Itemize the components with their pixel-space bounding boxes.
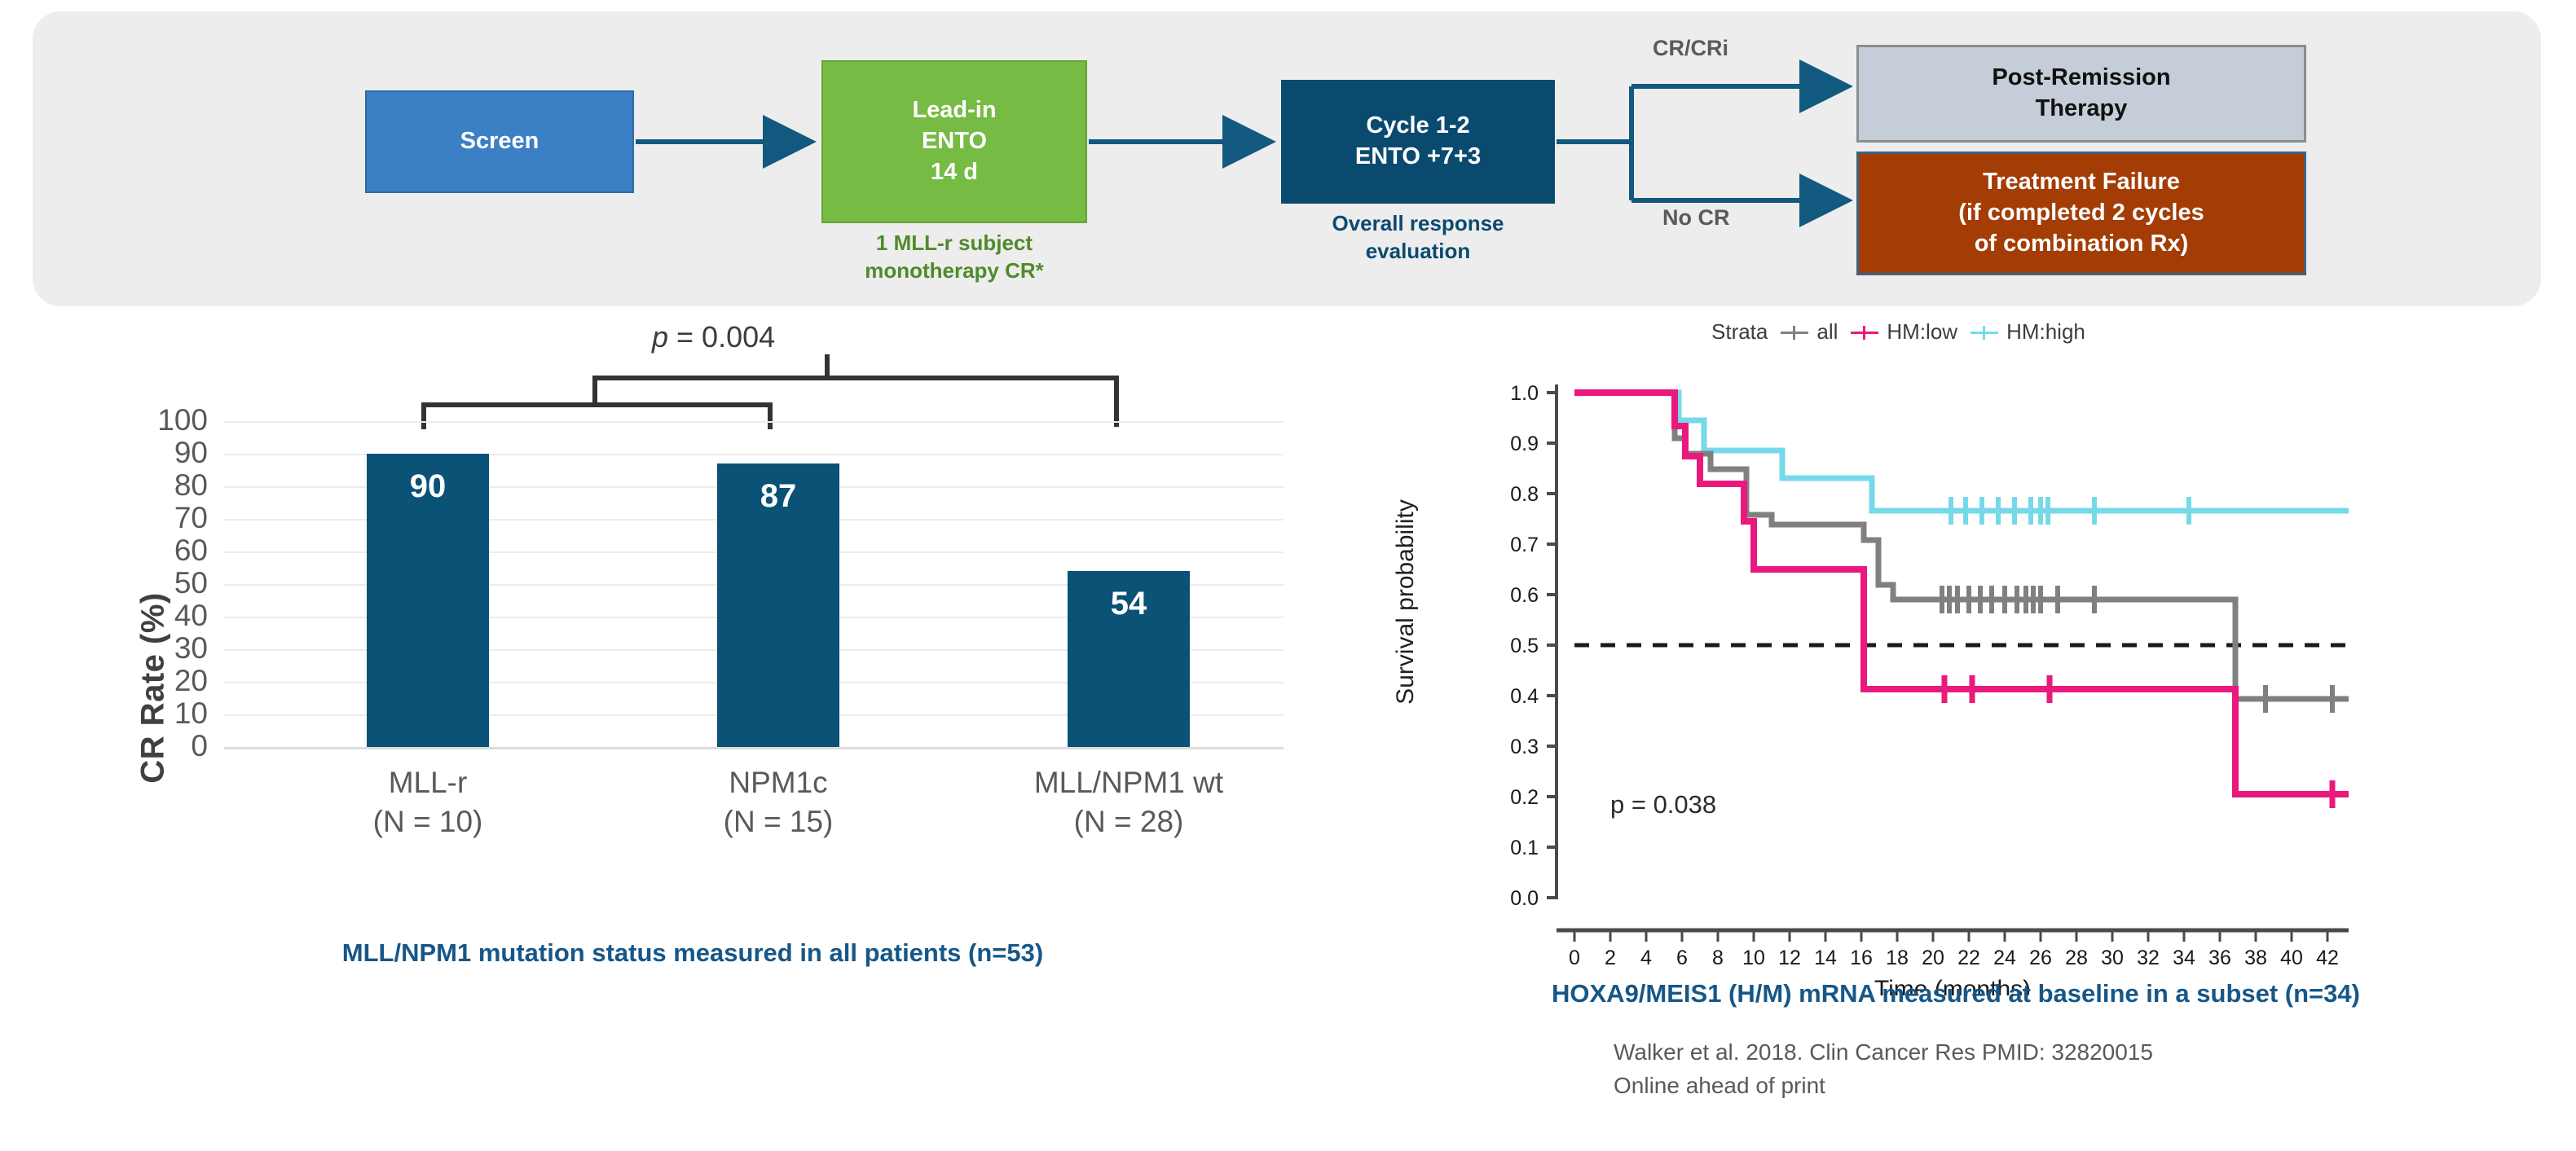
km-ytick-0-5: 0.5 [1510,635,1539,657]
source-credit-line-2: Online ahead of print [1614,1070,2153,1103]
km-curve-all [1574,393,2349,699]
km-ytick-0-4: 0.4 [1510,685,1539,708]
km-censor-marks-hm-low [1944,675,2332,808]
bar-xlabel-mll-npm1-wt: MLL/NPM1 wt (N = 28) [998,763,1259,841]
gridline-100 [224,421,1284,423]
km-y-tick-labels: 1.0 0.9 0.8 0.7 0.6 0.5 0.4 0.3 0.2 0.1 … [1510,382,1539,910]
flow-caption-lead-in-line-1: 1 MLL-r subject [789,230,1120,257]
km-legend: Strata all HM:low HM:high [1711,319,2085,345]
km-xtick-42: 42 [2316,947,2339,969]
bar-ytick-10: 10 [110,696,208,731]
km-caption: HOXA9/MEIS1 (H/M) mRNA measured at basel… [1353,979,2559,1008]
km-legend-swatch-hm-low-icon [1851,324,1878,340]
km-legend-swatch-all-icon [1781,324,1808,340]
flow-caption-lead-in: 1 MLL-r subject monotherapy CR* [789,230,1120,285]
km-ytick-0-2: 0.2 [1510,786,1539,809]
km-legend-item-all: all [1781,319,1838,345]
km-xtick-26: 26 [2029,947,2052,969]
flow-edge-label-no-cr: No CR [1662,205,1730,231]
flow-box-post-remission-line-2: Therapy [2036,94,2128,125]
km-xtick-22: 22 [1957,947,1980,969]
km-pvalue-annotation: p = 0.038 [1610,790,1716,819]
bar-ytick-100: 100 [110,403,208,437]
km-xtick-14: 14 [1814,947,1837,969]
source-credit-line-1: Walker et al. 2018. Clin Cancer Res PMID… [1614,1036,2153,1070]
flow-box-cycle-line-1: Cycle 1-2 [1366,111,1469,142]
source-credit: Walker et al. 2018. Clin Cancer Res PMID… [1614,1036,2153,1102]
km-xtick-16: 16 [1850,947,1873,969]
km-ytick-0-6: 0.6 [1510,584,1539,607]
bar-mll-r: 90 [367,454,489,747]
km-xtick-8: 8 [1712,947,1724,969]
bar-value-mll-npm1-wt: 54 [1068,586,1190,622]
bar-xlabel-mll-npm1-wt-n: (N = 28) [998,802,1259,841]
cr-rate-bar-chart: CR Rate (%) p = 0.004 100 90 80 70 60 50… [33,319,1336,1036]
axis-baseline [224,747,1284,749]
study-design-flow-panel: Screen Lead-in ENTO 14 d Cycle 1-2 ENTO … [33,11,2541,306]
bar-xlabel-mll-r-name: MLL-r [297,763,558,802]
flow-box-treatment-failure-line-1: Treatment Failure [1983,167,2180,198]
flow-edge-label-cr-cri: CR/CRi [1653,36,1728,61]
bar-ytick-60: 60 [110,534,208,568]
flow-box-treatment-failure: Treatment Failure (if completed 2 cycles… [1856,152,2306,275]
flow-box-post-remission-therapy: Post-Remission Therapy [1856,45,2306,143]
km-ytick-0-1: 0.1 [1510,837,1539,859]
kaplan-meier-survival-plot: Strata all HM:low HM:high Survival proba… [1353,319,2575,1150]
km-ytick-1-0: 1.0 [1510,382,1539,405]
flow-box-lead-in-line-1: Lead-in [912,95,996,126]
flow-caption-cycle-line-2: evaluation [1232,238,1604,266]
km-ytick-0-3: 0.3 [1510,736,1539,758]
km-xtick-36: 36 [2208,947,2231,969]
km-x-tick-labels: 0 2 4 6 8 10 12 14 16 18 20 22 24 26 28 … [1569,947,2339,969]
pvalue-italic-p: p [652,320,668,354]
flow-box-screen: Screen [365,90,634,193]
bar-value-npm1c: 87 [717,478,839,515]
km-xtick-4: 4 [1640,947,1652,969]
flow-box-treatment-failure-line-3: of combination Rx) [1975,229,2189,260]
flow-box-lead-in-line-2: ENTO [922,126,987,157]
km-y-axis-label: Survival probability [1392,439,1420,765]
km-legend-label-hm-low: HM:low [1887,319,1957,345]
km-xtick-24: 24 [1993,947,2016,969]
km-xtick-18: 18 [1886,947,1909,969]
flow-box-lead-in-line-3: 14 d [931,157,978,188]
km-legend-title: Strata [1711,319,1768,345]
km-legend-swatch-hm-high-icon [1971,324,1998,340]
km-xtick-12: 12 [1778,947,1801,969]
bar-chart-caption: MLL/NPM1 mutation status measured in all… [130,938,1255,968]
bar-xlabel-mll-r: MLL-r (N = 10) [297,763,558,841]
flow-caption-cycle-line-1: Overall response [1232,210,1604,238]
km-legend-label-hm-high: HM:high [2006,319,2085,345]
km-censor-marks-all [1942,586,2332,713]
km-xtick-28: 28 [2065,947,2088,969]
bar-mll-npm1-wt: 54 [1068,571,1190,747]
km-xtick-34: 34 [2173,947,2195,969]
km-ytick-0-9: 0.9 [1510,433,1539,455]
bar-ytick-30: 30 [110,631,208,666]
km-xtick-20: 20 [1922,947,1944,969]
flow-box-screen-line-1: Screen [460,126,539,157]
km-ytick-0-8: 0.8 [1510,483,1539,506]
bar-value-mll-r: 90 [367,468,489,505]
bar-ytick-20: 20 [110,664,208,698]
pvalue-rest: = 0.004 [668,320,775,354]
flow-box-cycle-line-2: ENTO +7+3 [1355,142,1481,173]
bar-ytick-50: 50 [110,566,208,600]
bar-npm1c: 87 [717,463,839,747]
km-xtick-32: 32 [2137,947,2160,969]
km-xtick-30: 30 [2101,947,2124,969]
bar-xlabel-npm1c-name: NPM1c [648,763,909,802]
bar-ytick-40: 40 [110,599,208,633]
bar-chart-pvalue-annotation: p = 0.004 [652,320,775,354]
km-legend-item-hm-low: HM:low [1851,319,1957,345]
bar-chart-plot-area: 100 90 80 70 60 50 40 30 20 10 0 90 87 5… [224,421,1284,747]
bar-xlabel-npm1c: NPM1c (N = 15) [648,763,909,841]
bar-xlabel-mll-npm1-wt-name: MLL/NPM1 wt [998,763,1259,802]
bar-ytick-90: 90 [110,436,208,470]
bar-ytick-0: 0 [110,729,208,763]
km-legend-label-all: all [1816,319,1838,345]
km-xtick-38: 38 [2244,947,2267,969]
km-xtick-40: 40 [2280,947,2303,969]
flow-box-lead-in: Lead-in ENTO 14 d [821,60,1087,223]
flow-caption-cycle: Overall response evaluation [1232,210,1604,266]
km-xtick-2: 2 [1605,947,1616,969]
bar-ytick-80: 80 [110,468,208,503]
flow-box-cycle: Cycle 1-2 ENTO +7+3 [1281,80,1555,204]
km-xtick-10: 10 [1742,947,1765,969]
flow-box-treatment-failure-line-2: (if completed 2 cycles [1958,198,2204,229]
km-legend-item-hm-high: HM:high [1971,319,2085,345]
bar-ytick-70: 70 [110,501,208,535]
bar-xlabel-mll-r-n: (N = 10) [297,802,558,841]
km-xtick-6: 6 [1676,947,1688,969]
km-plot-canvas: 1.0 0.9 0.8 0.7 0.6 0.5 0.4 0.3 0.2 0.1 … [1451,360,2412,995]
bar-xlabel-npm1c-n: (N = 15) [648,802,909,841]
km-xtick-0: 0 [1569,947,1580,969]
flow-caption-lead-in-line-2: monotherapy CR* [789,257,1120,285]
flow-box-post-remission-line-1: Post-Remission [1992,63,2170,94]
km-ytick-0-0: 0.0 [1510,887,1539,910]
km-ytick-0-7: 0.7 [1510,534,1539,556]
